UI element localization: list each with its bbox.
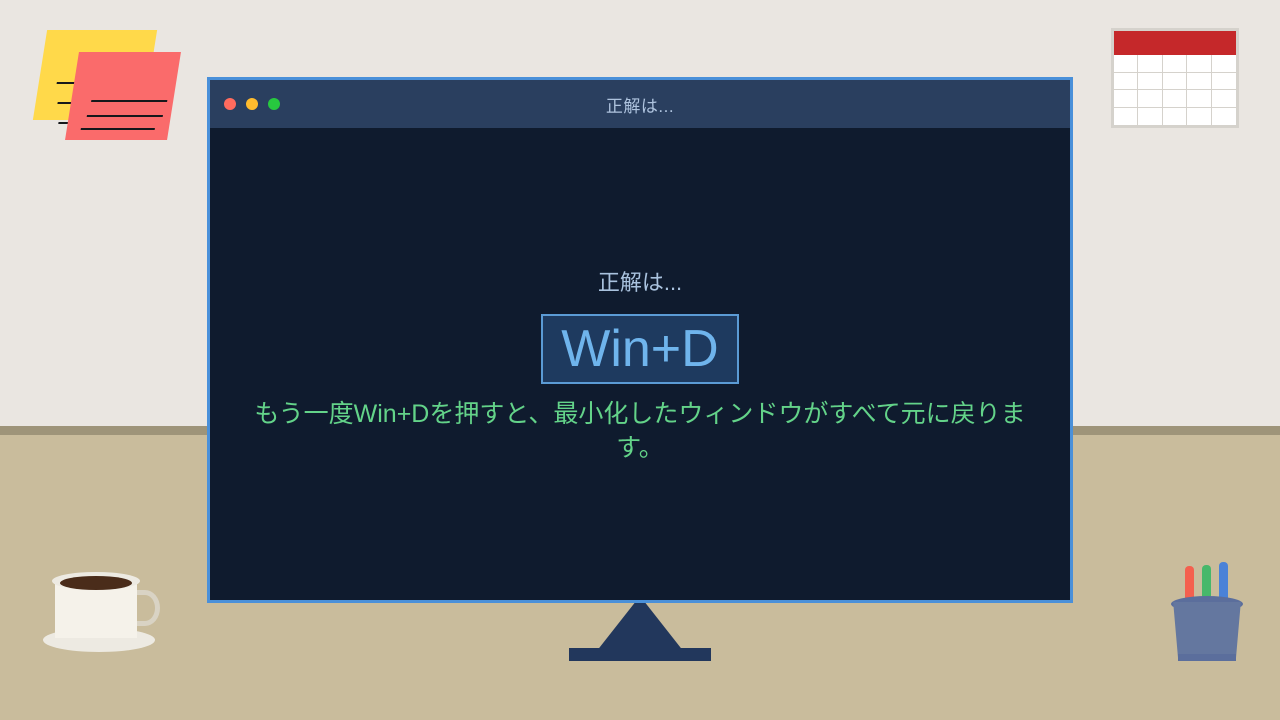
pen-cup-base — [1178, 654, 1236, 661]
calendar-cell — [1187, 55, 1211, 73]
calendar-cell — [1138, 108, 1162, 126]
calendar-cell — [1114, 73, 1138, 91]
calendar-cell — [1187, 108, 1211, 126]
answer-heading: 正解は... — [598, 272, 682, 294]
calendar-cell — [1163, 55, 1187, 73]
window-titlebar[interactable]: 正解は... — [210, 80, 1070, 128]
calendar-cell — [1114, 108, 1138, 126]
calendar-cell — [1212, 90, 1236, 108]
sticky-note-red — [65, 52, 181, 140]
answer-box: Win+D — [541, 314, 739, 384]
note-line — [91, 100, 167, 102]
explanation-text: もう一度Win+Dを押すと、最小化したウィンドウがすべて元に戻ります。 — [245, 398, 1035, 466]
wall-calendar — [1111, 28, 1239, 128]
pen-cup-body — [1171, 602, 1243, 660]
calendar-header — [1114, 31, 1236, 55]
window-title: 正解は... — [210, 92, 1070, 117]
calendar-grid — [1114, 55, 1236, 125]
monitor-screen: 正解は... 正解は... Win+D もう一度Win+Dを押すと、最小化したウ… — [207, 77, 1073, 603]
calendar-cell — [1114, 55, 1138, 73]
calendar-cell — [1187, 90, 1211, 108]
coffee-surface — [60, 576, 132, 590]
note-line — [81, 128, 155, 130]
minimize-button-icon[interactable] — [246, 98, 258, 110]
calendar-cell — [1212, 55, 1236, 73]
calendar-cell — [1212, 108, 1236, 126]
window-content: 正解は... Win+D もう一度Win+Dを押すと、最小化したウィンドウがすべ… — [210, 128, 1070, 600]
monitor-stand-neck — [596, 596, 684, 652]
close-button-icon[interactable] — [224, 98, 236, 110]
calendar-cell — [1187, 73, 1211, 91]
note-line — [87, 115, 163, 117]
calendar-cell — [1163, 108, 1187, 126]
desk-scene: 正解は... 正解は... Win+D もう一度Win+Dを押すと、最小化したウ… — [0, 0, 1280, 720]
calendar-cell — [1163, 90, 1187, 108]
calendar-cell — [1114, 90, 1138, 108]
calendar-cell — [1138, 90, 1162, 108]
traffic-light-buttons[interactable] — [224, 98, 280, 110]
calendar-cell — [1163, 73, 1187, 91]
monitor-stand-base — [569, 648, 711, 661]
calendar-cell — [1138, 55, 1162, 73]
maximize-button-icon[interactable] — [268, 98, 280, 110]
calendar-cell — [1138, 73, 1162, 91]
answer-value: Win+D — [561, 323, 718, 375]
calendar-cell — [1212, 73, 1236, 91]
